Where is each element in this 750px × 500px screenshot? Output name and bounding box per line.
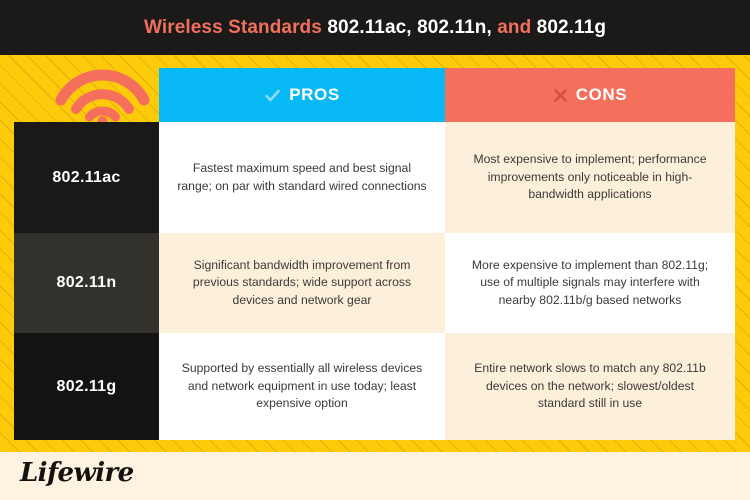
row-pros-text: Supported by essentially all wireless de… [175, 360, 429, 413]
column-header-cons: CONS [445, 68, 735, 122]
column-header-cons-label: CONS [576, 85, 628, 105]
row-pros-text: Significant bandwidth improvement from p… [175, 257, 429, 310]
row-cons-cell: Entire network slows to match any 802.11… [445, 333, 735, 440]
row-cons-text: More expensive to implement than 802.11g… [461, 257, 719, 310]
title-accent-part-2: and [497, 17, 536, 38]
row-cons-text: Most expensive to implement; performance… [461, 151, 719, 204]
row-label-cell: 802.11n [14, 233, 159, 333]
row-pros-text: Fastest maximum speed and best signal ra… [175, 160, 429, 195]
title-plain-part-1: 802.11ac, 802.11n, [327, 17, 497, 38]
check-icon [264, 87, 281, 104]
row-pros-cell: Significant bandwidth improvement from p… [159, 233, 445, 333]
row-standard-name: 802.11g [57, 378, 117, 396]
table-row: 802.11n Significant bandwidth improvemen… [14, 233, 735, 333]
infographic-page: Wireless Standards 802.11ac, 802.11n, an… [0, 0, 750, 500]
row-standard-name: 802.11n [57, 274, 117, 292]
column-header-pros-label: PROS [289, 85, 340, 105]
row-label-cell: 802.11g [14, 333, 159, 440]
row-cons-cell: More expensive to implement than 802.11g… [445, 233, 735, 333]
title-plain-part-2: 802.11g [537, 17, 606, 38]
table-row: 802.11g Supported by essentially all wir… [14, 333, 735, 440]
table-header-row: PROS CONS [14, 68, 735, 122]
page-title: Wireless Standards 802.11ac, 802.11n, an… [144, 17, 606, 39]
row-pros-cell: Supported by essentially all wireless de… [159, 333, 445, 440]
column-header-pros: PROS [159, 68, 445, 122]
footer-bar: Lifewire [0, 452, 750, 500]
row-cons-text: Entire network slows to match any 802.11… [461, 360, 719, 413]
comparison-table: PROS CONS 802.11ac Fastest maximum speed… [14, 68, 735, 440]
lifewire-logo: Lifewire [20, 458, 134, 488]
row-label-cell: 802.11ac [14, 122, 159, 233]
title-accent-part-1: Wireless Standards [144, 17, 327, 38]
x-icon [553, 88, 568, 103]
table-row: 802.11ac Fastest maximum speed and best … [14, 122, 735, 233]
row-cons-cell: Most expensive to implement; performance… [445, 122, 735, 233]
row-standard-name: 802.11ac [52, 169, 120, 187]
row-pros-cell: Fastest maximum speed and best signal ra… [159, 122, 445, 233]
title-bar: Wireless Standards 802.11ac, 802.11n, an… [0, 0, 750, 55]
